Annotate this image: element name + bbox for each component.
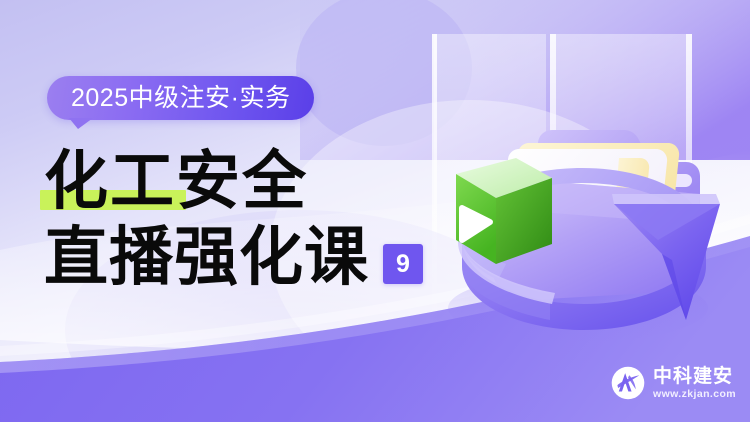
logo-mark-icon	[611, 366, 645, 400]
category-pill: 2025中级注安·实务	[47, 76, 314, 120]
headline-line-2: 直播强化课	[44, 226, 369, 290]
logo-text-block: 中科建安 www.zkjan.com	[653, 367, 736, 400]
category-pill-label: 2025中级注安·实务	[71, 86, 290, 111]
arrow-head-bevel	[612, 194, 720, 204]
brand-logo: 中科建安 www.zkjan.com	[611, 366, 736, 400]
episode-number: 9	[396, 252, 410, 277]
headline-row-2: 直播强化课 9	[44, 226, 423, 290]
course-promo-banner: 2025中级注安·实务 化工安全 直播强化课 9 中科建安	[0, 0, 750, 422]
folder-illustration-svg	[400, 8, 750, 358]
logo-website-url: www.zkjan.com	[653, 389, 736, 400]
green-play-cube	[456, 158, 552, 264]
headline-group: 化工安全 直播强化课 9	[44, 150, 423, 290]
course-category-badge: 2025中级注安·实务	[47, 76, 314, 120]
text-column: 2025中级注安·实务 化工安全 直播强化课 9	[0, 0, 430, 422]
headline-line-1: 化工安全	[44, 150, 308, 214]
headline-row-1: 化工安全	[44, 150, 423, 214]
folder-illustration	[400, 8, 750, 358]
pill-tail-icon	[69, 118, 93, 129]
episode-number-badge: 9	[383, 244, 423, 284]
logo-brand-name: 中科建安	[653, 367, 736, 386]
